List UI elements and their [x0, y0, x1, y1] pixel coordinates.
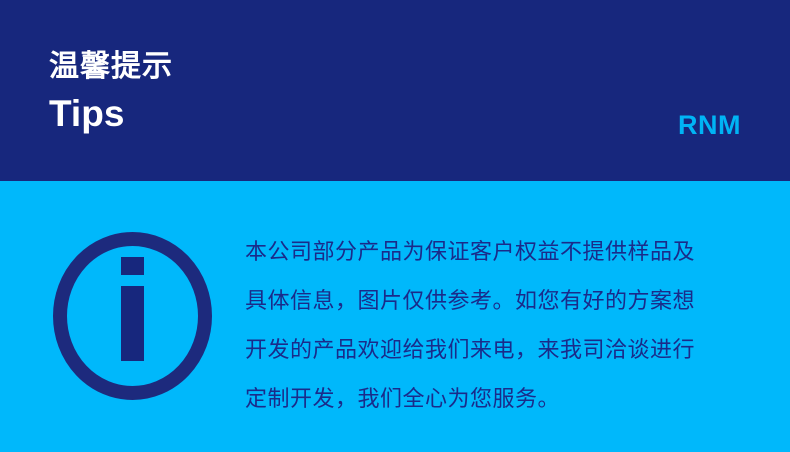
- notice-line: 本公司部分产品为保证客户权益不提供样品及: [245, 227, 745, 276]
- header-title-group: 温馨提示 Tips: [49, 48, 173, 136]
- banner-body: 本公司部分产品为保证客户权益不提供样品及 具体信息，图片仅供参考。如您有好的方案…: [0, 181, 790, 452]
- page-title-en: Tips: [49, 92, 173, 136]
- page-title-cn: 温馨提示: [49, 48, 173, 86]
- tips-banner: 温馨提示 Tips RNM 本公司部分产品为保证客户权益不提供样品及 具体信息，…: [0, 0, 790, 452]
- banner-header: 温馨提示 Tips RNM: [0, 0, 790, 181]
- notice-line: 具体信息，图片仅供参考。如您有好的方案想: [245, 276, 745, 325]
- brand-logo: RNM: [678, 110, 741, 141]
- notice-text-block: 本公司部分产品为保证客户权益不提供样品及 具体信息，图片仅供参考。如您有好的方案…: [245, 227, 745, 423]
- notice-line: 开发的产品欢迎给我们来电，来我司洽谈进行: [245, 325, 745, 374]
- notice-line: 定制开发，我们全心为您服务。: [245, 374, 745, 423]
- info-circle-icon: [52, 231, 213, 401]
